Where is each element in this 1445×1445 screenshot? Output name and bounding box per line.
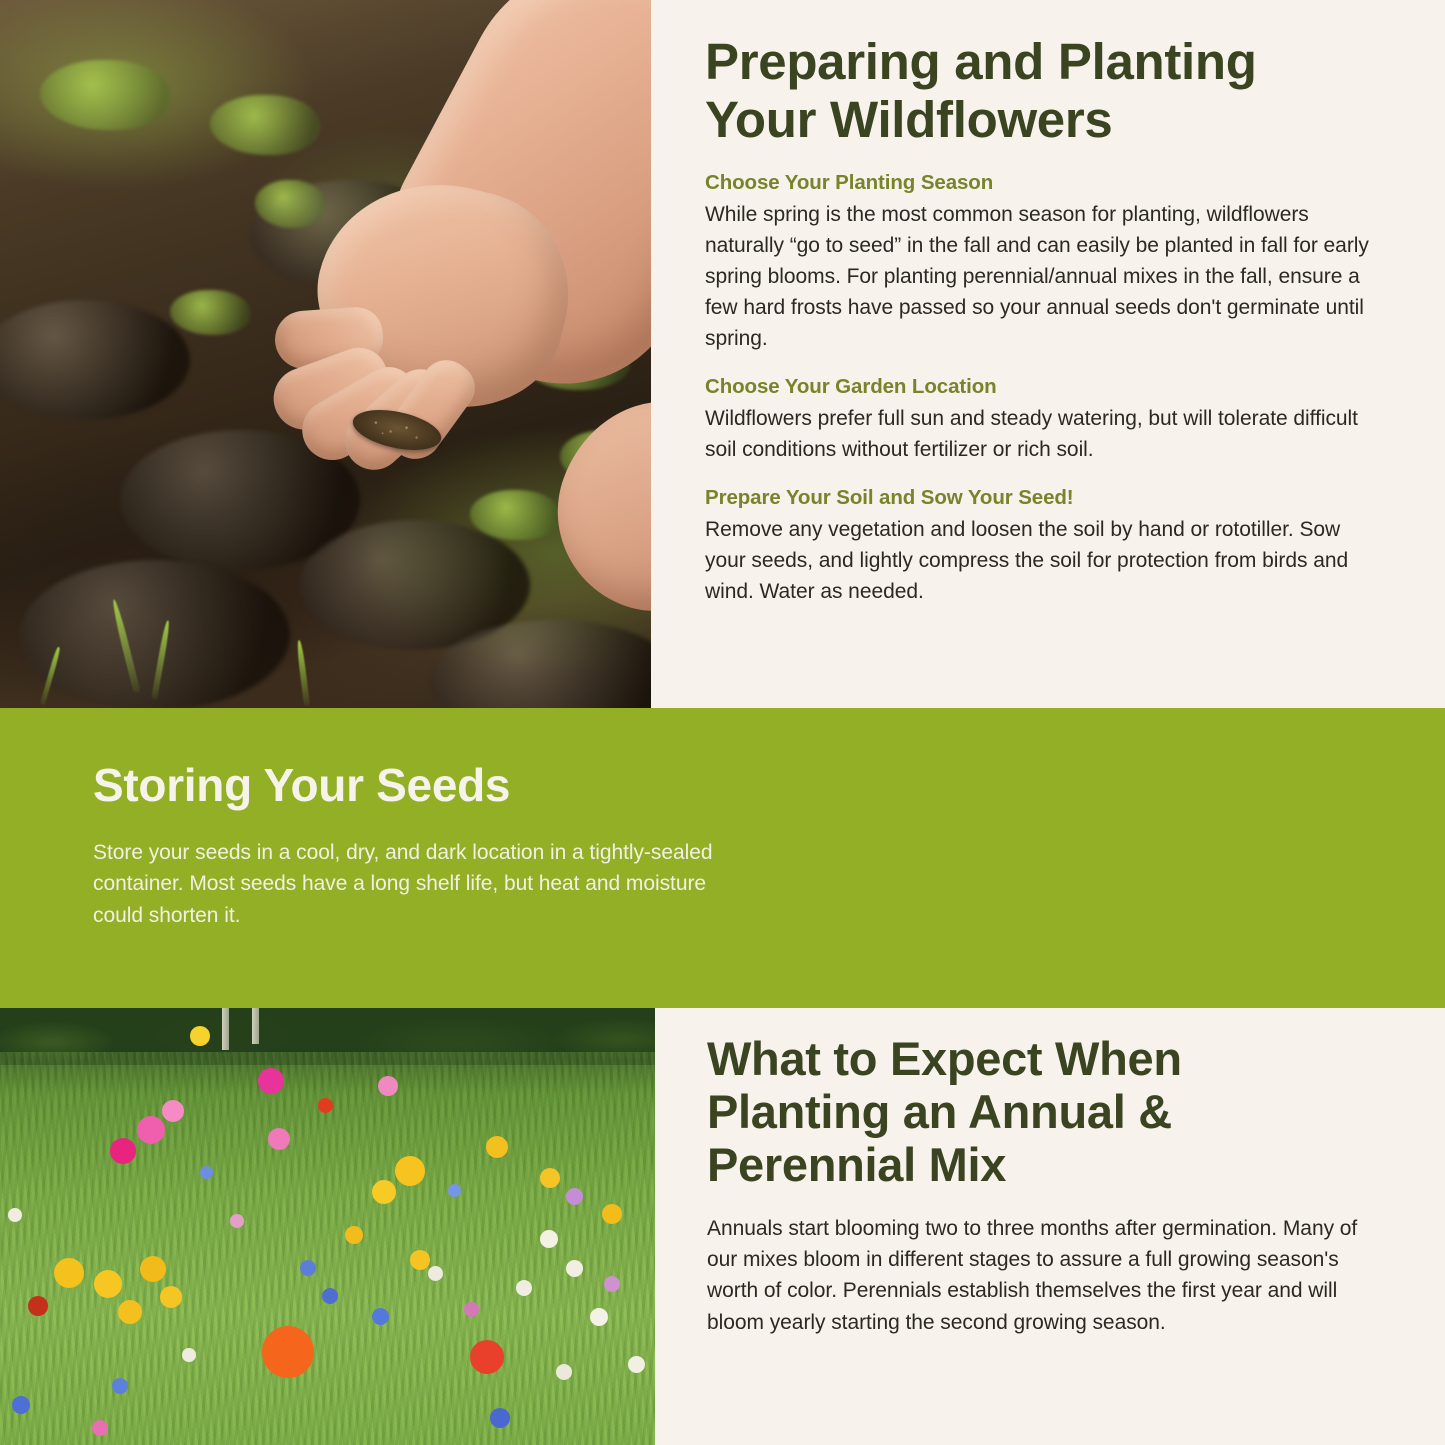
infographic-page: Preparing and Planting Your Wildflowers … bbox=[0, 0, 1445, 1445]
section3-text-column: What to Expect When Planting an Annual &… bbox=[655, 1008, 1445, 1445]
subhead-garden-location: Choose Your Garden Location bbox=[705, 374, 1375, 401]
block-planting-season: Choose Your Planting Season While spring… bbox=[705, 170, 1375, 354]
section-what-to-expect: What to Expect When Planting an Annual &… bbox=[0, 1008, 1445, 1445]
body-prepare-soil: Remove any vegetation and loosen the soi… bbox=[705, 514, 1375, 607]
what-to-expect-title: What to Expect When Planting an Annual &… bbox=[707, 1032, 1375, 1191]
body-garden-location: Wildflowers prefer full sun and steady w… bbox=[705, 403, 1375, 465]
section-preparing-planting: Preparing and Planting Your Wildflowers … bbox=[0, 0, 1445, 708]
wildflower-meadow-photo bbox=[0, 1008, 655, 1445]
block-prepare-soil: Prepare Your Soil and Sow Your Seed! Rem… bbox=[705, 485, 1375, 607]
soil-planting-photo bbox=[0, 0, 651, 708]
storing-seeds-body: Store your seeds in a cool, dry, and dar… bbox=[93, 837, 723, 932]
page-title: Preparing and Planting Your Wildflowers bbox=[705, 33, 1375, 148]
block-garden-location: Choose Your Garden Location Wildflowers … bbox=[705, 374, 1375, 465]
section-storing-seeds: Storing Your Seeds Store your seeds in a… bbox=[0, 708, 1445, 1008]
hand-illustration bbox=[0, 0, 651, 708]
body-planting-season: While spring is the most common season f… bbox=[705, 199, 1375, 354]
what-to-expect-body: Annuals start blooming two to three mont… bbox=[707, 1213, 1375, 1337]
subhead-planting-season: Choose Your Planting Season bbox=[705, 170, 1375, 197]
section2-text-column: Storing Your Seeds Store your seeds in a… bbox=[93, 760, 723, 931]
storing-seeds-title: Storing Your Seeds bbox=[93, 760, 723, 811]
section1-text-column: Preparing and Planting Your Wildflowers … bbox=[651, 0, 1445, 708]
subhead-prepare-soil: Prepare Your Soil and Sow Your Seed! bbox=[705, 485, 1375, 512]
